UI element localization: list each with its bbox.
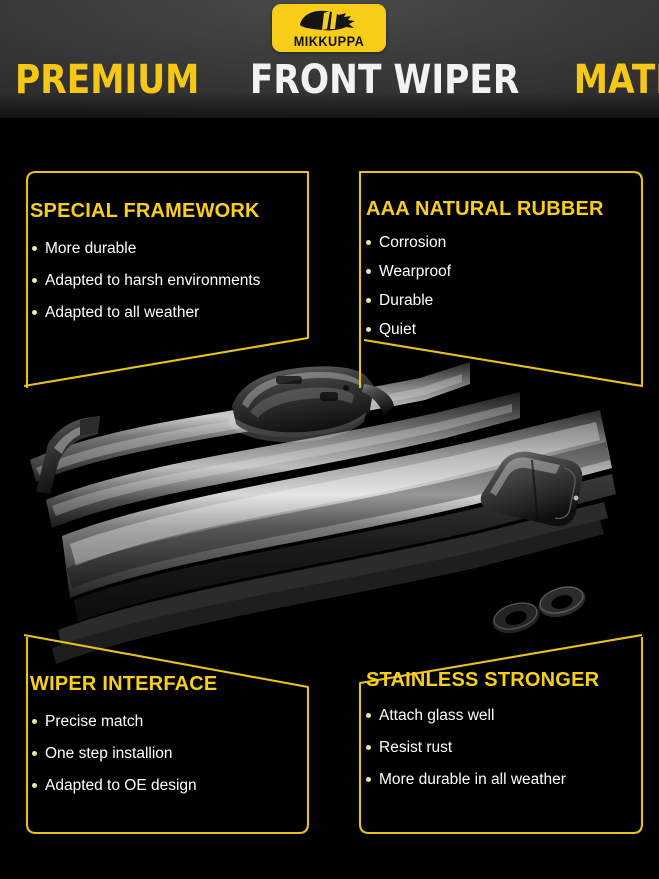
card-special-framework: SPECIAL FRAMEWORK More durable Adapted t…	[16, 170, 316, 388]
page-title: PREMIUM FRONT WIPER MATERIALS	[0, 60, 659, 100]
card-aaa-natural-rubber: AAA NATURAL RUBBER Corrosion Wearproof D…	[352, 170, 652, 388]
title-part-premium: PREMIUM	[15, 60, 199, 100]
title-part-materials: MATERIALS	[573, 60, 659, 100]
card-title: SPECIAL FRAMEWORK	[30, 200, 260, 223]
bullet-item: More durable in all weather	[366, 771, 566, 788]
bullet-item: Adapted to harsh environments	[32, 272, 260, 289]
bullet-item: Wearproof	[366, 263, 451, 280]
brand-logo-wordmark: MIKKUPPA	[275, 34, 382, 49]
bullet-item: Quiet	[366, 321, 451, 338]
card-bullet-list: Precise match One step installion Adapte…	[32, 713, 197, 809]
card-title: WIPER INTERFACE	[30, 673, 217, 696]
infographic-page: MIKKUPPA PREMIUM FRONT WIPER MATERIALS	[0, 0, 659, 879]
bullet-item: Corrosion	[366, 234, 451, 251]
bullet-item: Adapted to OE design	[32, 777, 197, 794]
bullet-item: One step installion	[32, 745, 197, 762]
bullet-item: Durable	[366, 292, 451, 309]
bullet-item: Attach glass well	[366, 707, 566, 724]
card-bullet-list: Attach glass well Resist rust More durab…	[366, 707, 566, 803]
card-bullet-list: Corrosion Wearproof Durable Quiet	[366, 234, 451, 350]
brand-logo-badge: MIKKUPPA	[272, 4, 386, 52]
bullet-item: Precise match	[32, 713, 197, 730]
bullet-item: Resist rust	[366, 739, 566, 756]
card-title: AAA NATURAL RUBBER	[366, 198, 604, 221]
hornet-logo-icon	[294, 8, 364, 33]
card-bullet-list: More durable Adapted to harsh environmen…	[32, 240, 260, 336]
card-stainless-stronger: STAINLESS STRONGER Attach glass well Res…	[352, 635, 652, 835]
bullet-item: Adapted to all weather	[32, 304, 260, 321]
card-wiper-interface: WIPER INTERFACE Precise match One step i…	[16, 635, 316, 835]
card-title: STAINLESS STRONGER	[366, 669, 599, 692]
bullet-item: More durable	[32, 240, 260, 257]
title-part-front-wiper: FRONT WIPER	[250, 60, 519, 100]
